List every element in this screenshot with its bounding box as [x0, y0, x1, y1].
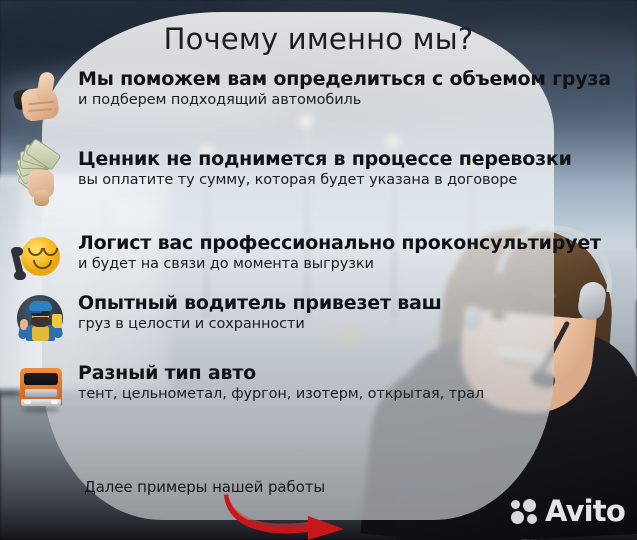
logo-dot	[511, 500, 520, 509]
benefit-heading: Логист вас профессионально проконсультир…	[78, 232, 601, 254]
logo-dot	[523, 499, 536, 512]
truck-headlight	[24, 400, 31, 404]
wrist	[34, 190, 49, 206]
avito-wordmark: Avito	[545, 497, 625, 526]
benefit-subtext: груз в целости и сохранности	[78, 316, 442, 332]
benefit-subtext: и будет на связи до момента выгрузки	[78, 256, 601, 272]
benefit-heading: Мы поможем вам определиться с объемом гр…	[78, 68, 611, 90]
logo-dot	[511, 511, 524, 524]
handset-mouthpiece	[14, 271, 26, 280]
thumbs-up-icon	[12, 68, 70, 124]
banner-root: Почему именно мы? Мы поможем вам определ…	[0, 0, 637, 540]
relieved-smiley-with-headset-icon	[12, 232, 70, 288]
smiley-face	[21, 237, 60, 276]
benefit-subtext: и подберем подходящий автомобиль	[78, 92, 611, 108]
benefit-subtext: тент, цельнометал, фургон, изотерм, откр…	[78, 386, 484, 402]
benefit-subtext: вы оплатите ту сумму, которая будет указ…	[78, 172, 572, 188]
truck-driver-icon	[12, 292, 70, 348]
orange-truck-icon	[12, 362, 70, 418]
logo-dot	[527, 514, 537, 524]
truck-windshield	[24, 373, 58, 385]
truck-grille	[25, 389, 57, 397]
benefit-heading: Ценник не поднимется в процессе перевозк…	[78, 148, 572, 170]
phone-handset-icon	[12, 248, 25, 278]
truck-headlight	[51, 400, 58, 404]
red-curved-arrow-icon	[222, 492, 352, 540]
truck-shadow	[22, 407, 60, 412]
hand-with-money-icon	[12, 148, 70, 204]
driver-cap	[29, 301, 52, 311]
avito-watermark: Avito	[511, 497, 625, 526]
driver-beard	[31, 317, 50, 327]
avito-dots-logo-icon	[511, 499, 539, 525]
benefit-heading: Разный тип авто	[78, 362, 484, 384]
driver-overalls	[32, 326, 49, 341]
page-title: Почему именно мы?	[0, 22, 637, 56]
panel-content: Почему именно мы? Мы поможем вам определ…	[0, 0, 637, 540]
benefit-heading: Опытный водитель привезет ваш	[78, 292, 442, 314]
